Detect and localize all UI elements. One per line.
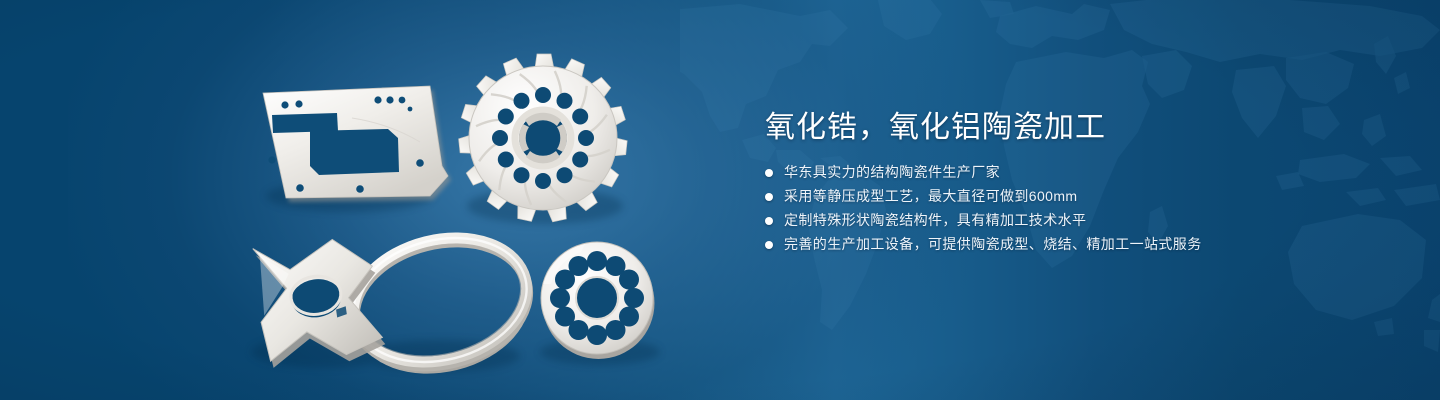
list-item-label: 定制特殊形状陶瓷结构件，具有精加工技术水平 (784, 210, 1086, 231)
list-item: 华东具实力的结构陶瓷件生产厂家 (765, 162, 1385, 183)
list-item-label: 华东具实力的结构陶瓷件生产厂家 (784, 162, 1000, 183)
list-item-label: 完善的生产加工设备，可提供陶瓷成型、烧结、精加工一站式服务 (784, 234, 1202, 255)
bullet-dot-icon (765, 193, 773, 201)
bullet-dot-icon (765, 217, 773, 225)
feature-list: 华东具实力的结构陶瓷件生产厂家 采用等静压成型工艺，最大直径可做到600mm 定… (765, 162, 1385, 255)
list-item: 采用等静压成型工艺，最大直径可做到600mm (765, 186, 1385, 207)
bullet-dot-icon (765, 241, 773, 249)
hero-banner: 氧化锆，氧化铝陶瓷加工 华东具实力的结构陶瓷件生产厂家 采用等静压成型工艺，最大… (0, 0, 1440, 400)
list-item-label: 采用等静压成型工艺，最大直径可做到600mm (784, 186, 1077, 207)
banner-copy: 氧化锆，氧化铝陶瓷加工 华东具实力的结构陶瓷件生产厂家 采用等静压成型工艺，最大… (765, 108, 1385, 258)
bullet-dot-icon (765, 169, 773, 177)
list-item: 完善的生产加工设备，可提供陶瓷成型、烧结、精加工一站式服务 (765, 234, 1385, 255)
page-title: 氧化锆，氧化铝陶瓷加工 (765, 108, 1385, 148)
list-item: 定制特殊形状陶瓷结构件，具有精加工技术水平 (765, 210, 1385, 231)
